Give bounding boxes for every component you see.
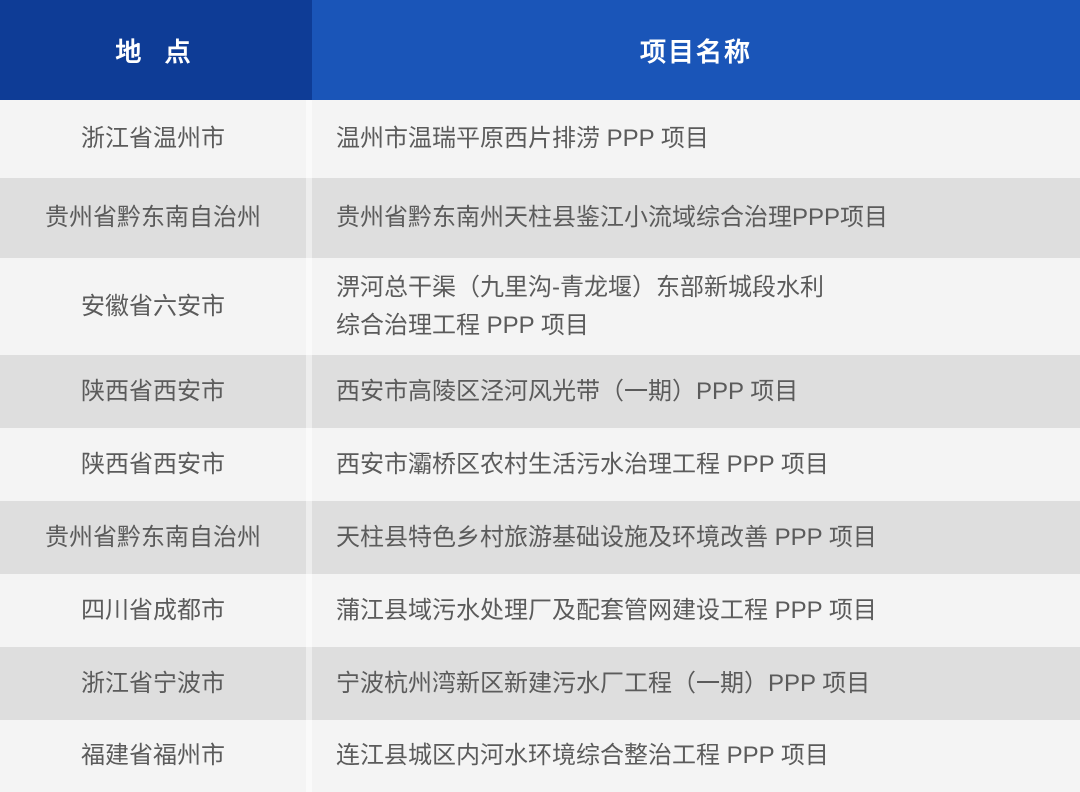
project-name-line: 宁波杭州湾新区新建污水厂工程（一期）PPP 项目 [336,665,1066,702]
cell-location: 安徽省六安市 [0,258,306,355]
ppp-project-table-container: 地 点 项目名称 浙江省温州市 温州市温瑞平原西片排涝 PPP 项目 贵州省黔东… [0,0,1080,792]
table-row: 贵州省黔东南自治州 天柱县特色乡村旅游基础设施及环境改善 PPP 项目 [0,501,1080,574]
project-name-line: 西安市高陵区泾河风光带（一期）PPP 项目 [336,373,1066,410]
cell-project-name: 温州市温瑞平原西片排涝 PPP 项目 [312,100,1080,178]
cell-location: 福建省福州市 [0,720,306,792]
cell-location: 贵州省黔东南自治州 [0,178,306,258]
table-row: 四川省成都市 蒲江县域污水处理厂及配套管网建设工程 PPP 项目 [0,574,1080,647]
project-name-line: 连江县城区内河水环境综合整治工程 PPP 项目 [336,737,1066,774]
table-row: 安徽省六安市 淠河总干渠（九里沟-青龙堰）东部新城段水利 综合治理工程 PPP … [0,258,1080,355]
cell-project-name: 西安市高陵区泾河风光带（一期）PPP 项目 [312,355,1080,428]
project-name-line: 综合治理工程 PPP 项目 [336,307,1066,344]
table-row: 浙江省宁波市 宁波杭州湾新区新建污水厂工程（一期）PPP 项目 [0,647,1080,720]
table-header: 地 点 项目名称 [0,0,1080,100]
cell-project-name: 淠河总干渠（九里沟-青龙堰）东部新城段水利 综合治理工程 PPP 项目 [312,258,1080,355]
cell-project-name: 贵州省黔东南州天柱县鉴江小流域综合治理PPP项目 [312,178,1080,258]
project-name-line: 淠河总干渠（九里沟-青龙堰）东部新城段水利 [336,269,1066,306]
cell-location: 贵州省黔东南自治州 [0,501,306,574]
column-header-location: 地 点 [0,0,306,100]
project-name-line: 贵州省黔东南州天柱县鉴江小流域综合治理PPP项目 [336,199,1066,236]
cell-project-name: 西安市灞桥区农村生活污水治理工程 PPP 项目 [312,428,1080,501]
cell-location: 浙江省温州市 [0,100,306,178]
project-name-line: 蒲江县域污水处理厂及配套管网建设工程 PPP 项目 [336,592,1066,629]
table-row: 陕西省西安市 西安市灞桥区农村生活污水治理工程 PPP 项目 [0,428,1080,501]
cell-project-name: 连江县城区内河水环境综合整治工程 PPP 项目 [312,720,1080,792]
table-body: 浙江省温州市 温州市温瑞平原西片排涝 PPP 项目 贵州省黔东南自治州 贵州省黔… [0,100,1080,792]
project-name-line: 天柱县特色乡村旅游基础设施及环境改善 PPP 项目 [336,519,1066,556]
table-row: 浙江省温州市 温州市温瑞平原西片排涝 PPP 项目 [0,100,1080,178]
cell-project-name: 天柱县特色乡村旅游基础设施及环境改善 PPP 项目 [312,501,1080,574]
cell-location: 四川省成都市 [0,574,306,647]
cell-location: 陕西省西安市 [0,428,306,501]
table-row: 贵州省黔东南自治州 贵州省黔东南州天柱县鉴江小流域综合治理PPP项目 [0,178,1080,258]
project-name-line: 西安市灞桥区农村生活污水治理工程 PPP 项目 [336,446,1066,483]
cell-project-name: 宁波杭州湾新区新建污水厂工程（一期）PPP 项目 [312,647,1080,720]
header-row: 地 点 项目名称 [0,0,1080,100]
table-row: 陕西省西安市 西安市高陵区泾河风光带（一期）PPP 项目 [0,355,1080,428]
ppp-project-table: 地 点 项目名称 浙江省温州市 温州市温瑞平原西片排涝 PPP 项目 贵州省黔东… [0,0,1080,792]
table-row: 福建省福州市 连江县城区内河水环境综合整治工程 PPP 项目 [0,720,1080,792]
cell-project-name: 蒲江县域污水处理厂及配套管网建设工程 PPP 项目 [312,574,1080,647]
cell-location: 陕西省西安市 [0,355,306,428]
cell-location: 浙江省宁波市 [0,647,306,720]
column-header-project-name: 项目名称 [312,0,1080,100]
project-name-line: 温州市温瑞平原西片排涝 PPP 项目 [336,120,1066,157]
